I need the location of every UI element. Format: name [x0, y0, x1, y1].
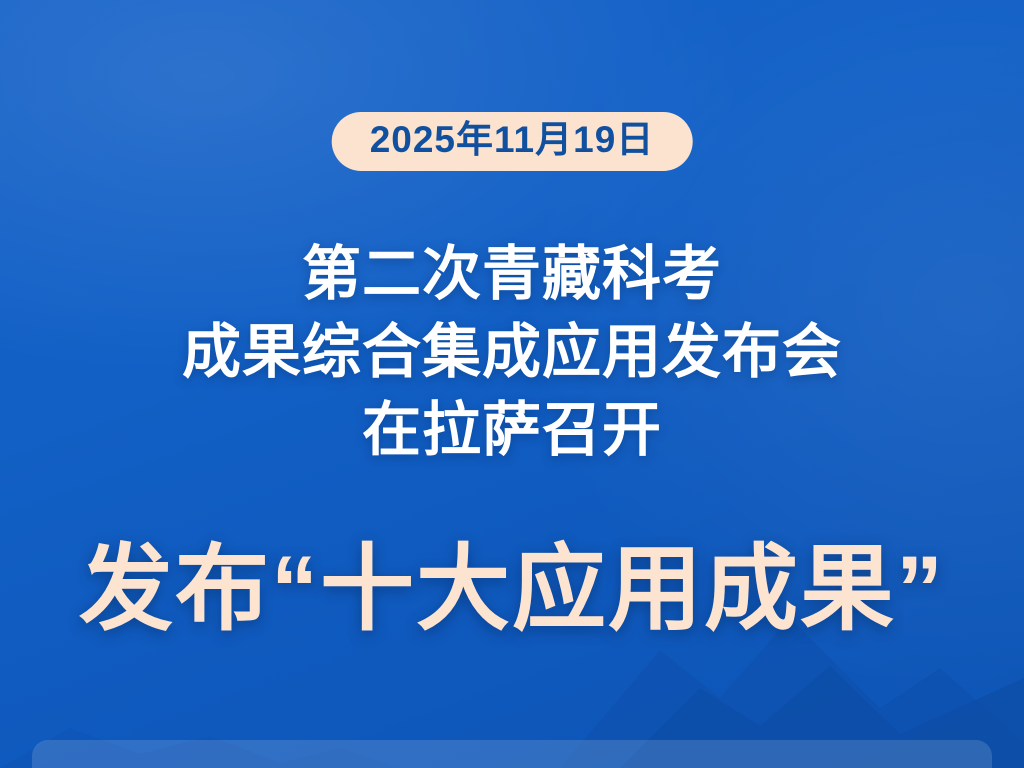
page-title: 第二次青藏科考 成果综合集成应用发布会 在拉萨召开 — [0, 236, 1024, 470]
headline-line-3: 在拉萨召开 — [0, 392, 1024, 470]
date-badge: 2025年11月19日 — [332, 112, 693, 171]
headline-line-1: 第二次青藏科考 — [0, 236, 1024, 314]
headline-line-2: 成果综合集成应用发布会 — [0, 314, 1024, 392]
poster-canvas: 2025年11月19日 第二次青藏科考 成果综合集成应用发布会 在拉萨召开 发布… — [0, 0, 1024, 768]
bottom-panel — [32, 740, 992, 768]
subheadline: 发布“十大应用成果” — [0, 540, 1024, 639]
